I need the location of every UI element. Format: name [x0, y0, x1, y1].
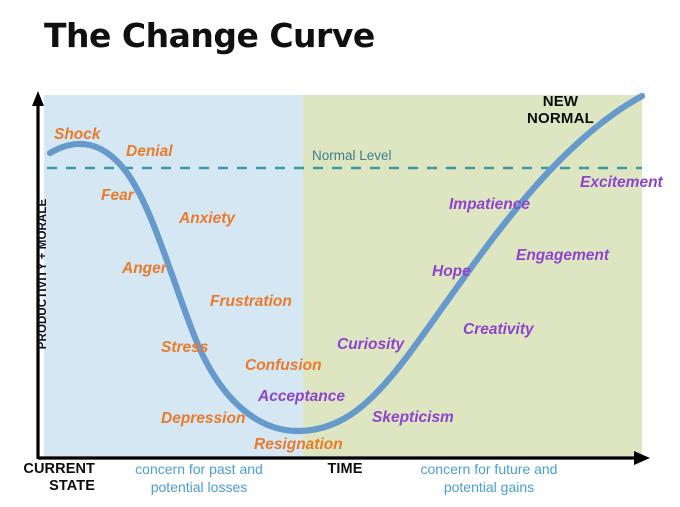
y-axis-label: PRODUCTIVITY + MORALE [37, 174, 49, 374]
caption-left: concern for past and potential losses [99, 461, 299, 497]
curve-stage-label: Frustration [210, 294, 292, 310]
curve-stage-label: Fear [101, 188, 134, 204]
curve-stage-label: Creativity [463, 322, 534, 338]
curve-stage-label: Engagement [516, 248, 609, 264]
normal-level-label: Normal Level [312, 148, 392, 163]
curve-stage-label: Curiosity [337, 337, 404, 353]
curve-stage-label: Hope [432, 264, 471, 280]
curve-stage-label: Anxiety [179, 211, 235, 227]
curve-stage-label: Denial [126, 144, 173, 160]
caption-right-line1: concern for future and [421, 461, 558, 477]
curve-stage-label: Skepticism [372, 410, 454, 426]
x-axis-label: TIME [310, 461, 380, 478]
change-curve-diagram: The Change Curve PRODUCTIVITY + MORALE N… [0, 0, 680, 507]
new-normal-line2: NORMAL [527, 110, 594, 127]
caption-right-line2: potential gains [444, 479, 534, 495]
curve-stage-label: Confusion [245, 358, 322, 374]
curve-stage-label: Stress [161, 340, 208, 356]
current-state-line1: CURRENT [23, 461, 95, 477]
current-state-label: CURRENT STATE [2, 461, 95, 495]
caption-left-line2: potential losses [151, 479, 248, 495]
caption-left-line1: concern for past and [135, 461, 263, 477]
curve-stage-label: Shock [54, 127, 101, 143]
new-normal-label: NEW NORMAL [508, 93, 613, 128]
curve-stage-label: Depression [161, 411, 245, 427]
caption-right: concern for future and potential gains [384, 461, 594, 497]
curve-stage-label: Anger [122, 261, 167, 277]
curve-stage-label: Resignation [254, 437, 343, 453]
current-state-line2: STATE [49, 478, 95, 494]
curve-stage-label: Impatience [449, 197, 530, 213]
y-axis-arrowhead [32, 91, 44, 106]
page-title: The Change Curve [44, 16, 375, 55]
new-normal-line1: NEW [543, 93, 579, 110]
curve-stage-label: Excitement [580, 175, 663, 191]
curve-stage-label: Acceptance [258, 389, 345, 405]
